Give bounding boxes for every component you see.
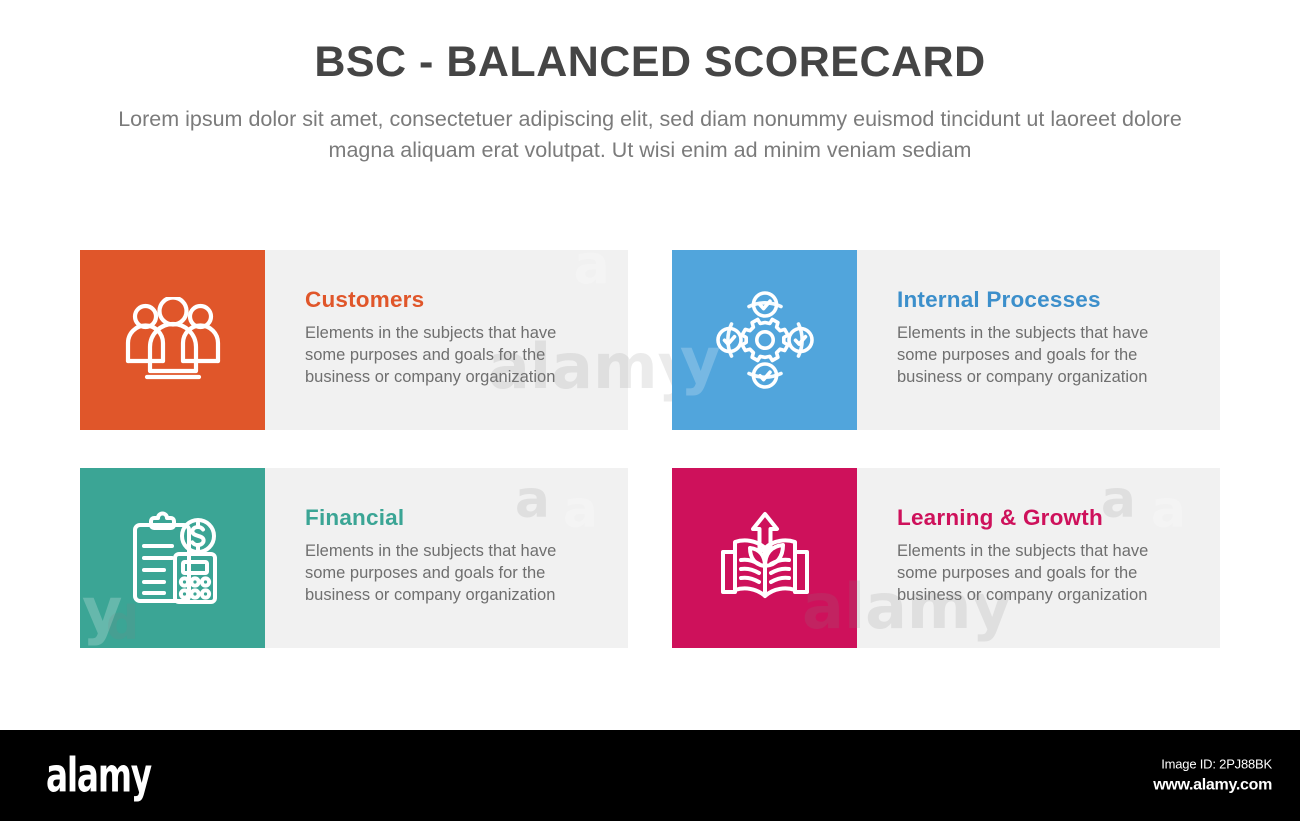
page-subtitle: Lorem ipsum dolor sit amet, consectetuer…	[90, 104, 1210, 165]
card-description: Elements in the subjects that have some …	[897, 540, 1187, 606]
header: BSC - BALANCED SCORECARD Lorem ipsum dol…	[0, 0, 1300, 165]
card-title: Learning & Growth	[897, 506, 1194, 531]
card-description: Elements in the subjects that have some …	[305, 540, 595, 606]
card-description: Elements in the subjects that have some …	[305, 322, 595, 388]
gear-checks-icon	[716, 291, 814, 389]
scorecard-grid: a Customers E	[80, 250, 1220, 648]
book-plant-arrow-icon	[715, 508, 815, 608]
card-financial[interactable]: a y	[80, 468, 628, 648]
card-internal-processes[interactable]: y	[672, 250, 1220, 430]
icon-panel-internal-processes: y	[672, 250, 857, 430]
page-title: BSC - BALANCED SCORECARD	[0, 38, 1300, 86]
card-body-internal-processes: Internal Processes Elements in the subje…	[857, 250, 1220, 430]
alamy-logo: alamy	[46, 756, 174, 796]
image-id-label: Image ID: 2PJ88BK	[1153, 754, 1272, 774]
infographic-page: BSC - BALANCED SCORECARD Lorem ipsum dol…	[0, 0, 1300, 821]
card-body-financial: a Financial Elements in the subjects tha…	[265, 468, 628, 648]
icon-panel-customers: a	[80, 250, 265, 430]
alamy-footer-bar: alamy Image ID: 2PJ88BK www.alamy.com	[0, 730, 1300, 821]
people-group-icon	[125, 297, 221, 383]
icon-panel-financial: a y	[80, 468, 265, 648]
alamy-url-link[interactable]: www.alamy.com	[1153, 774, 1272, 796]
card-title: Customers	[305, 288, 602, 313]
card-customers[interactable]: a Customers E	[80, 250, 628, 430]
icon-panel-learning-growth: a	[672, 468, 857, 648]
watermark-letter: y	[82, 580, 122, 642]
clipboard-calculator-dollar-icon	[123, 508, 223, 608]
card-description: Elements in the subjects that have some …	[897, 322, 1187, 388]
card-title: Financial	[305, 506, 602, 531]
card-body-learning-growth: a Learning & Growth Elements in the subj…	[857, 468, 1220, 648]
card-body-customers: Customers Elements in the subjects that …	[265, 250, 628, 430]
card-title: Internal Processes	[897, 288, 1194, 313]
watermark-letter: y	[680, 330, 720, 392]
card-learning-growth[interactable]: a	[672, 468, 1220, 648]
footer-meta: Image ID: 2PJ88BK www.alamy.com	[1153, 754, 1272, 797]
